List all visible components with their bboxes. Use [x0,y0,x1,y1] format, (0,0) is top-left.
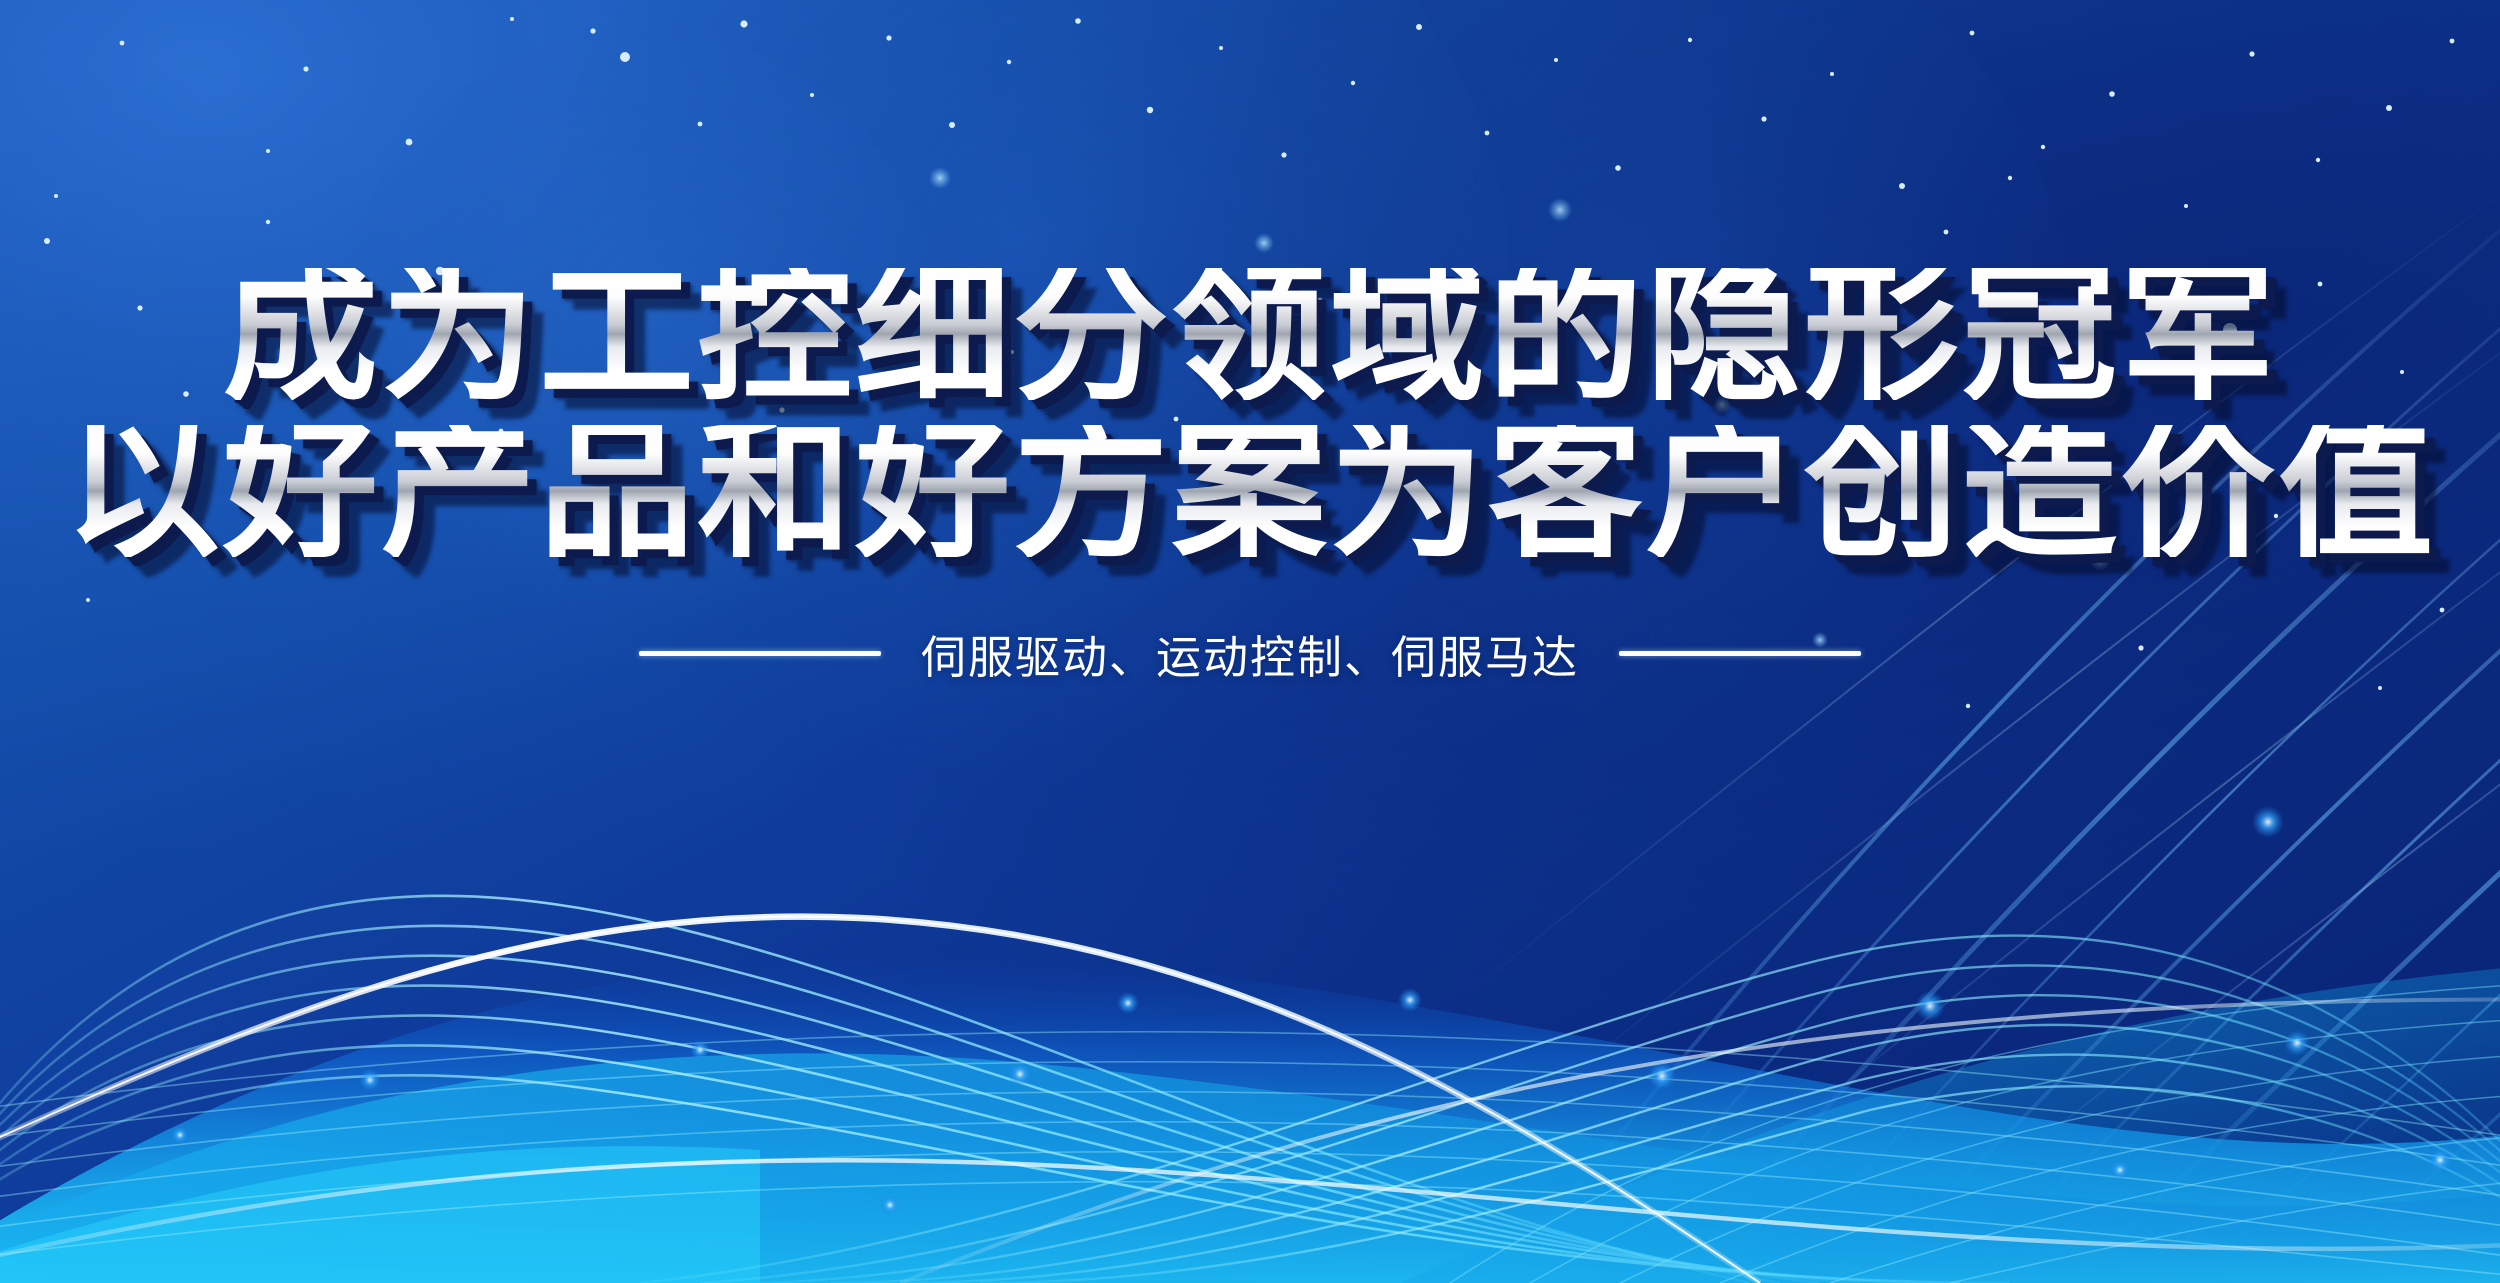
hero-banner: 成为工控细分领域的隐形冠军 以好产品和好方案为客户创造价值 伺服驱动、运动控制、… [0,0,2500,1283]
subtitle-text: 伺服驱动、运动控制、伺服马达 [921,621,1579,686]
rule-right-icon [1619,651,1861,656]
subtitle-row: 伺服驱动、运动控制、伺服马达 [639,621,1861,686]
headline-line-1: 成为工控细分领域的隐形冠军 [222,268,2277,400]
banner-content: 成为工控细分领域的隐形冠军 以好产品和好方案为客户创造价值 伺服驱动、运动控制、… [0,0,2500,686]
rule-left-icon [639,651,881,656]
headline-line-2: 以好产品和好方案为客户创造价值 [64,425,2436,557]
